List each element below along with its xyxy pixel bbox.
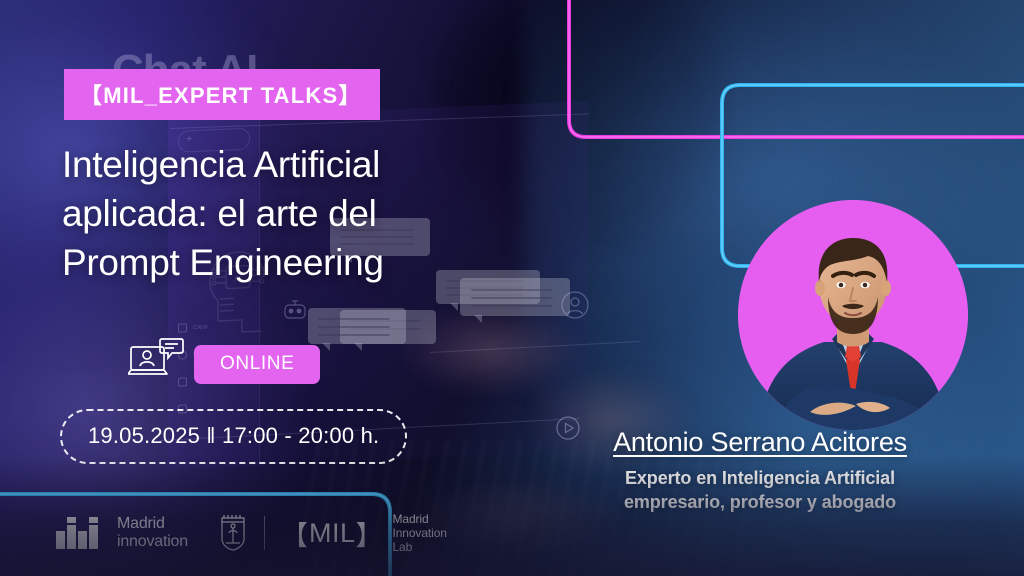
speaker-avatar	[738, 200, 968, 430]
user-icon	[560, 290, 590, 320]
page-title: Inteligencia Artificial aplicada: el art…	[62, 140, 532, 288]
speaker-portrait-illustration	[738, 200, 968, 430]
speaker-name: Antonio Serrano Acitores	[520, 427, 1000, 458]
robot-icon	[282, 300, 308, 320]
trash-icon	[178, 323, 187, 332]
event-poster: Clear Ligh mode AI C	[0, 0, 1024, 576]
bottom-shade-overlay	[0, 456, 1024, 576]
headline-line-3: Prompt Engineering	[62, 238, 532, 287]
webinar-laptop-icon	[128, 338, 184, 384]
headline-line-1: Inteligencia Artificial	[62, 140, 532, 189]
eyebrow-badge: 【MIL_EXPERT TALKS】	[64, 69, 380, 120]
mock-chat-bubble	[308, 308, 406, 344]
headline-line-2: aplicada: el arte del	[62, 189, 532, 238]
online-badge: ONLINE	[194, 345, 320, 384]
